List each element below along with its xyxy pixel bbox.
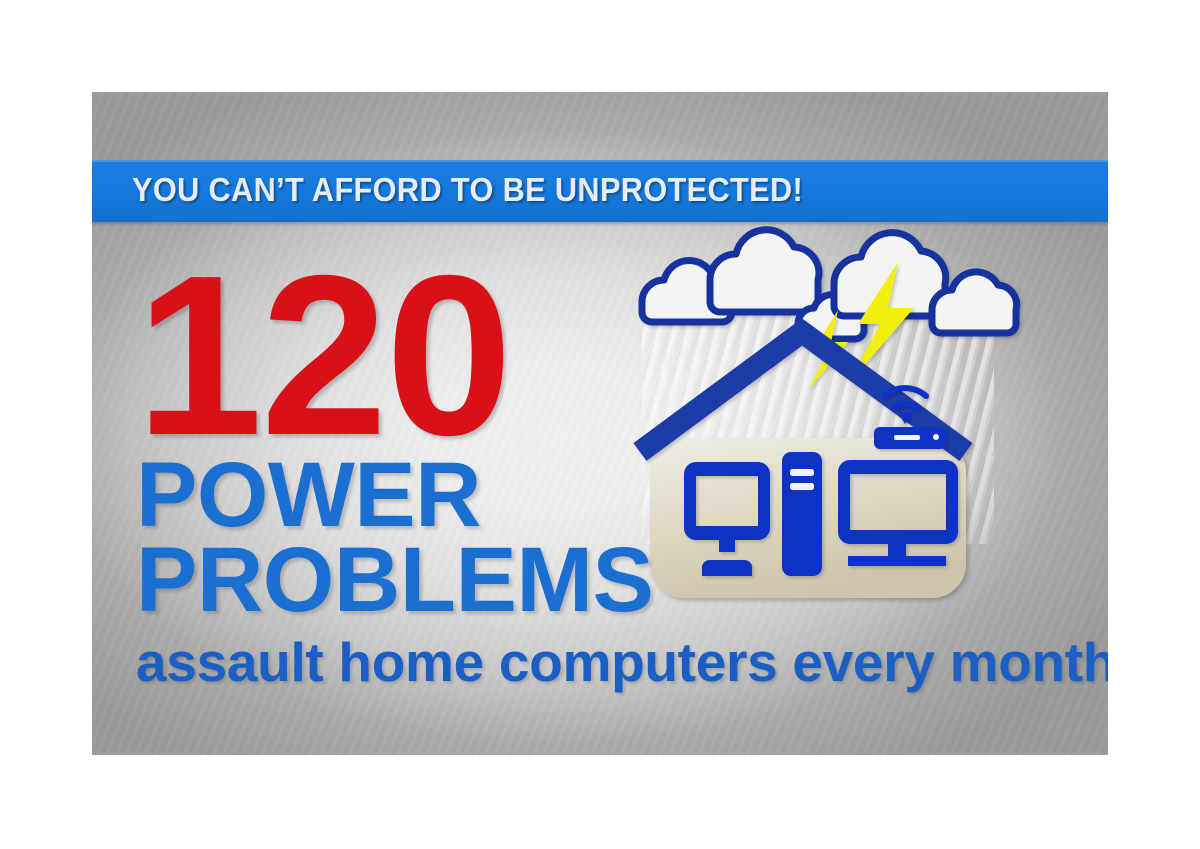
header-banner: YOU CAN’T AFFORD TO BE UNPROTECTED! — [92, 160, 1108, 222]
headline-line-problems: PROBLEMS — [136, 540, 656, 621]
stat-number: 120 — [136, 277, 656, 437]
banner-title-text: YOU CAN’T AFFORD TO BE UNPROTECTED! — [132, 171, 803, 209]
banner-title: YOU CAN’T AFFORD TO BE UNPROTECTED! — [132, 171, 854, 209]
cloud-2 — [710, 230, 819, 312]
page-margin-bottom — [0, 755, 1200, 849]
headline-line-power: POWER — [136, 455, 656, 536]
headline-subtitle: assault home computers every month. — [136, 635, 656, 690]
screenshot-canvas: YOU CAN’T AFFORD TO BE UNPROTECTED! 120 … — [0, 0, 1200, 849]
page-margin-top — [0, 0, 1200, 92]
cloud-group — [642, 230, 1017, 339]
storm-home-illustration — [626, 224, 1046, 604]
page-margin-right — [1108, 0, 1200, 849]
headline-block: 120 POWER PROBLEMS assault home computer… — [136, 277, 656, 690]
cloud-4 — [834, 233, 946, 316]
slide: YOU CAN’T AFFORD TO BE UNPROTECTED! 120 … — [92, 92, 1108, 755]
page-margin-left — [0, 0, 92, 849]
pc-tower-icon — [782, 452, 822, 576]
